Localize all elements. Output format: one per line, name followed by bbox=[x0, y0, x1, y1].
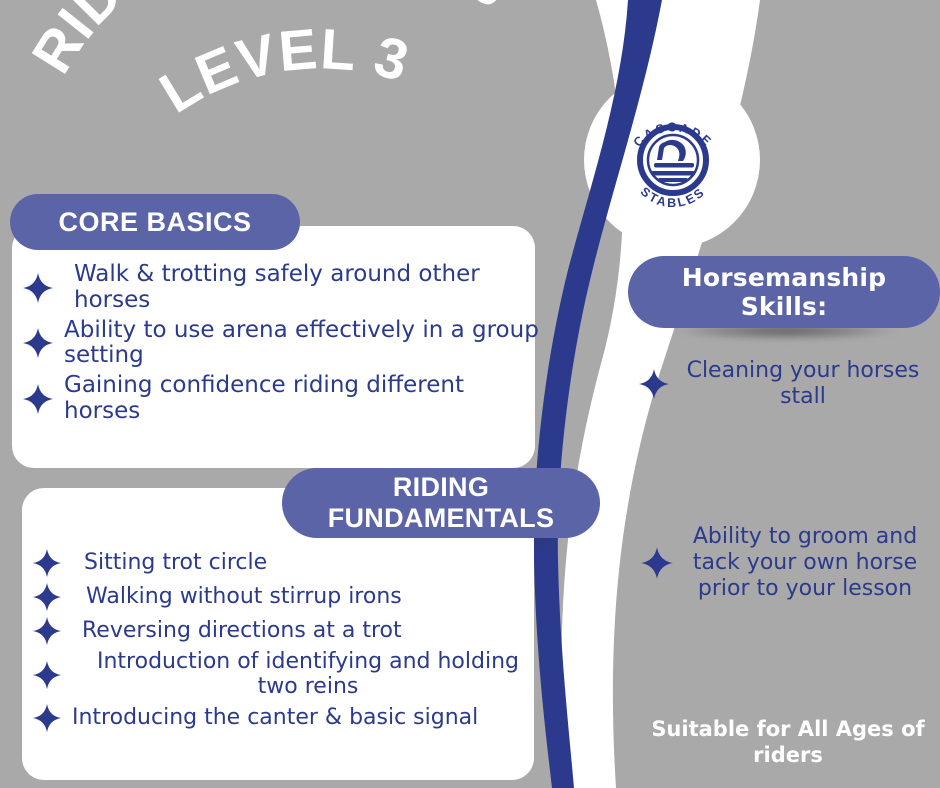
list-item: Gaining confidence riding different hors… bbox=[22, 373, 542, 425]
sparkle-star-icon bbox=[32, 616, 62, 646]
cascade-stables-logo: CASCADE STABLES bbox=[618, 108, 728, 212]
sparkle-star-icon bbox=[22, 272, 54, 304]
poster-title: RIDING LESSONS LEVEL 3 bbox=[30, 0, 560, 184]
riding-fundamentals-heading-line-1: RIDING bbox=[393, 472, 489, 503]
list-item: Walk & trotting safely around other hors… bbox=[22, 262, 542, 314]
sparkle-star-icon bbox=[32, 703, 62, 733]
list-item-text: Gaining confidence riding different hors… bbox=[64, 373, 542, 425]
list-item-text: Cleaning your horses stall bbox=[678, 358, 928, 410]
list-item: Sitting trot circle bbox=[32, 548, 532, 578]
sparkle-star-icon bbox=[22, 383, 54, 415]
horsemanship-heading-line-1: Horsemanship bbox=[682, 263, 887, 293]
sparkle-star-icon bbox=[640, 546, 674, 580]
sparkle-star-icon bbox=[32, 548, 62, 578]
list-item: Walking without stirrup irons bbox=[32, 582, 532, 612]
horse-head-icon bbox=[657, 140, 686, 161]
logo-bottom-text: STABLES bbox=[638, 184, 709, 210]
suitability-footnote: Suitable for All Ages of riders bbox=[640, 716, 936, 769]
title-line-2: LEVEL 3 bbox=[149, 17, 416, 126]
list-item: Cleaning your horses stall bbox=[638, 358, 938, 410]
riding-fundamentals-heading-line-2: FUNDAMENTALS bbox=[328, 503, 555, 534]
sparkle-star-icon bbox=[32, 660, 62, 690]
horsemanship-heading-pill: Horsemanship Skills: bbox=[628, 256, 940, 328]
riding-fundamentals-bullet-list: Sitting trot circle Walking without stir… bbox=[32, 548, 532, 737]
core-basics-bullet-list: Walk & trotting safely around other hors… bbox=[22, 262, 542, 429]
horsemanship-heading-line-2: Skills: bbox=[741, 292, 828, 322]
list-item: Reversing directions at a trot bbox=[32, 616, 532, 646]
sparkle-star-icon bbox=[32, 582, 62, 612]
list-item-text: Walking without stirrup irons bbox=[72, 585, 402, 610]
list-item-text: Ability to use arena effectively in a gr… bbox=[64, 318, 542, 370]
list-item: Introduction of identifying and holding … bbox=[32, 650, 532, 699]
riding-fundamentals-heading-pill: RIDING FUNDAMENTALS bbox=[282, 468, 600, 538]
sparkle-star-icon bbox=[638, 368, 670, 400]
list-item: Ability to groom and tack your own horse… bbox=[640, 524, 940, 602]
list-item: Introducing the canter & basic signal bbox=[32, 703, 532, 733]
poster-canvas: RIDING LESSONS LEVEL 3 CASCADE bbox=[0, 0, 940, 788]
list-item-text: Walk & trotting safely around other hors… bbox=[64, 262, 542, 314]
list-item-text: Ability to groom and tack your own horse… bbox=[680, 524, 930, 602]
core-basics-heading-label: CORE BASICS bbox=[58, 207, 251, 238]
list-item-text: Introduction of identifying and holding … bbox=[72, 650, 532, 699]
list-item-text: Sitting trot circle bbox=[72, 551, 267, 576]
list-item-text: Reversing directions at a trot bbox=[72, 619, 402, 644]
list-item-text: Introducing the canter & basic signal bbox=[72, 706, 478, 731]
list-item: Ability to use arena effectively in a gr… bbox=[22, 318, 542, 370]
sparkle-star-icon bbox=[22, 327, 54, 359]
core-basics-heading-pill: CORE BASICS bbox=[10, 194, 300, 250]
